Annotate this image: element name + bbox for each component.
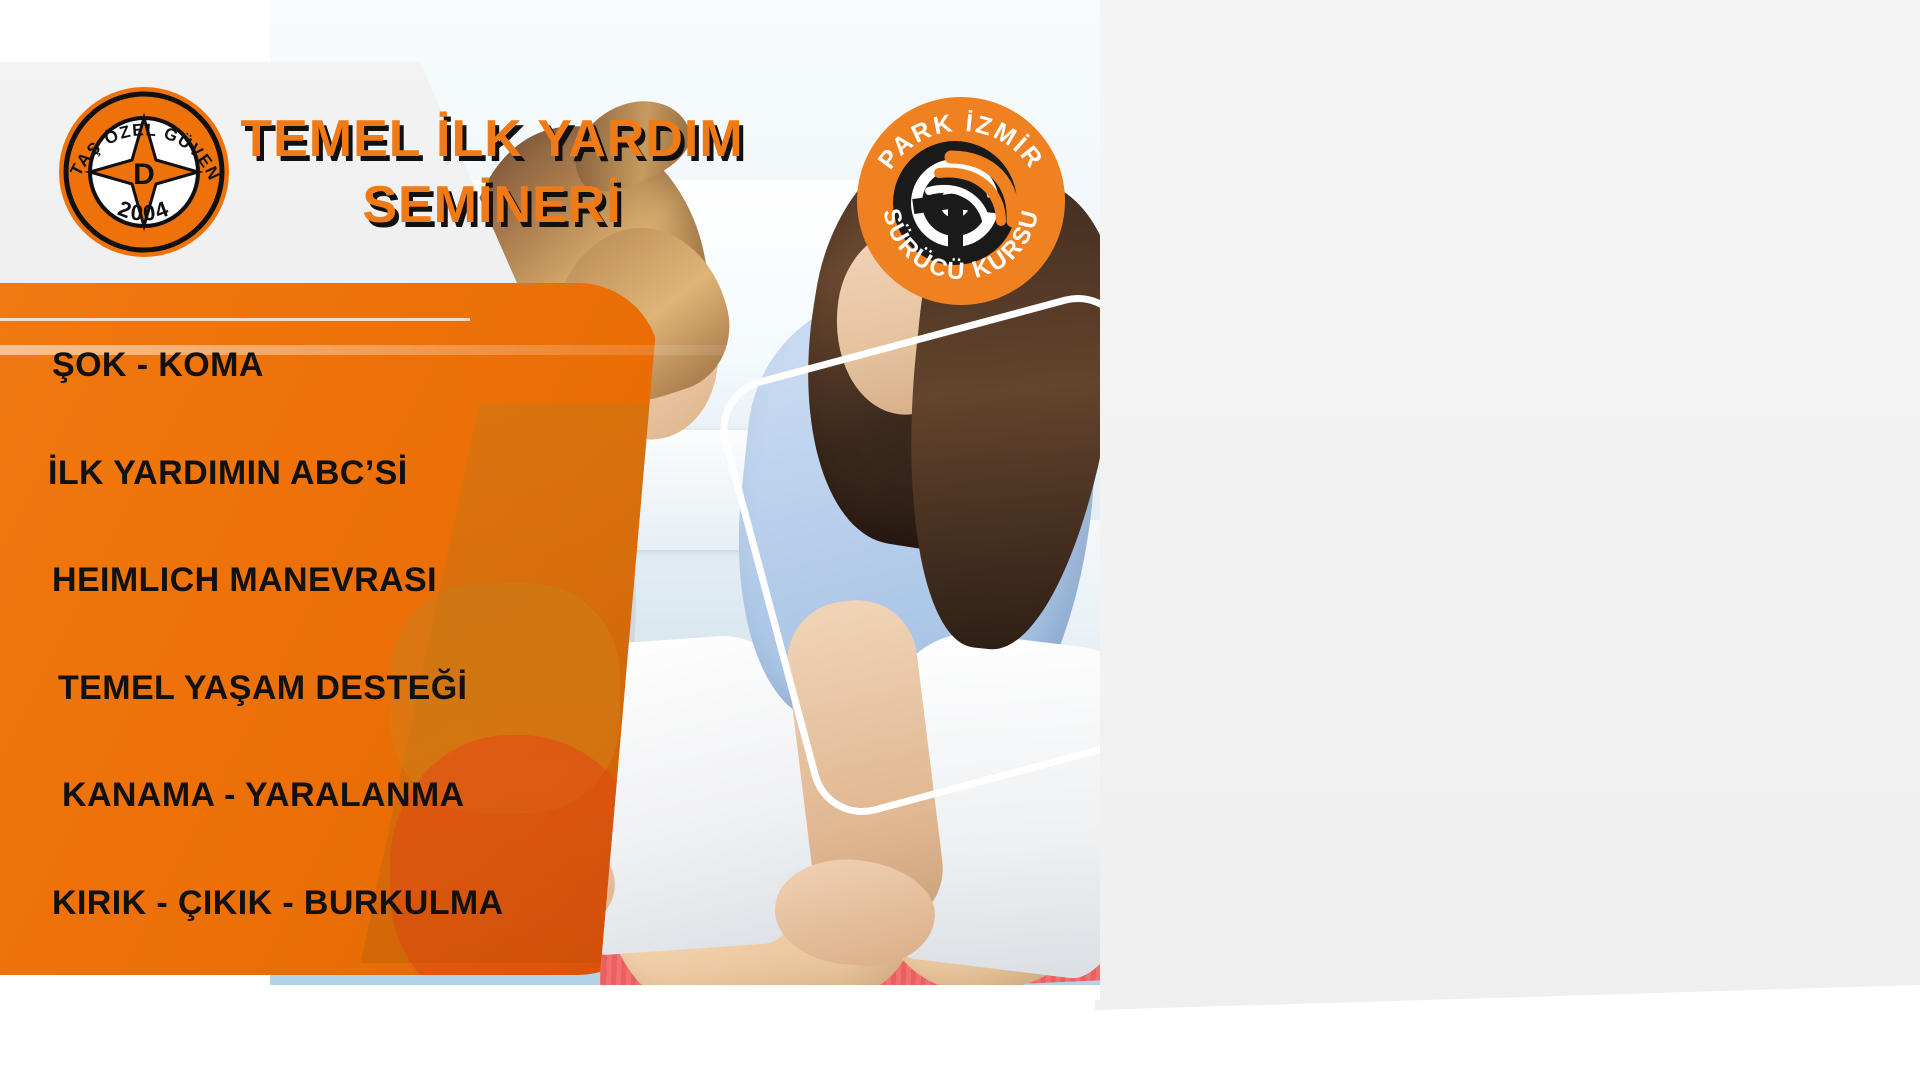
poster-title: TEMEL İLK YARDIM SEMİNERİ xyxy=(232,110,752,234)
topics-orange-panel xyxy=(0,283,660,975)
left-visual-stage: ŞOK - KOMA İLK YARDIMIN ABC’Sİ HEIMLICH … xyxy=(0,0,1100,1000)
seminar-poster: EGİAD EGE GENÇ İŞ İNSANLARI DERNEĞİ 1990… xyxy=(0,0,1920,1080)
title-line-2: SEMİNERİ xyxy=(232,176,752,234)
title-line-1: TEMEL İLK YARDIM xyxy=(232,110,752,168)
right-info-panel: EGİAD EGE GENÇ İŞ İNSANLARI DERNEĞİ 1990… xyxy=(1095,0,1920,1010)
panel-top-divider xyxy=(0,318,470,321)
deltas-center-letter: D xyxy=(133,158,155,191)
stage-bottom-edge xyxy=(0,985,1100,1000)
panel-highlight-line xyxy=(0,345,780,355)
deltas-guvenlik-logo: D DELTAŞ ÖZEL GÜVENLİK 2004 xyxy=(56,84,232,260)
park-izmir-surucu-kursu-logo: PARK İZMİR SÜRÜCÜ KURSU xyxy=(855,95,1067,307)
